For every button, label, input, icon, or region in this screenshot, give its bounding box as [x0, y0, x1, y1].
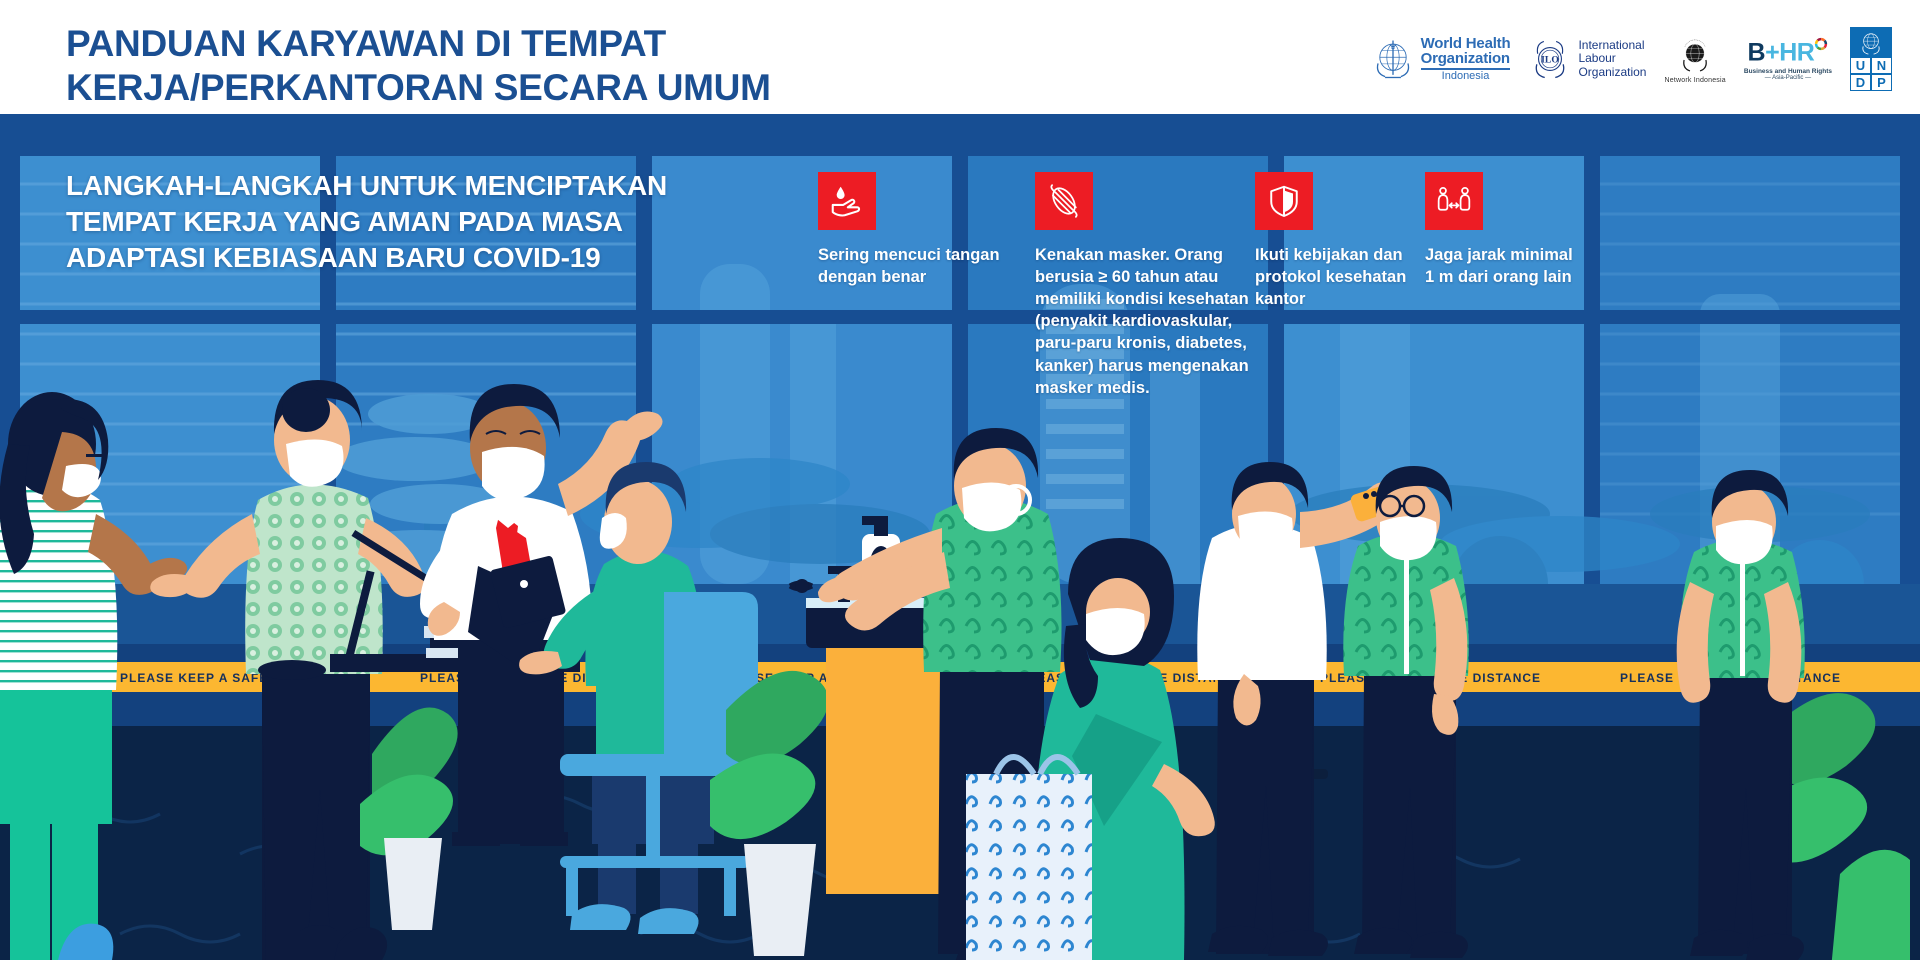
- who-line1: World Health: [1421, 36, 1511, 51]
- shield-glyph: [1266, 183, 1302, 219]
- shield-icon: [1255, 172, 1313, 230]
- face-mask-icon: [1035, 172, 1093, 230]
- who-line3: Indonesia: [1421, 71, 1511, 82]
- who-line2: Organization: [1421, 51, 1511, 66]
- ilo-logo: ILO International Labour Organization: [1528, 37, 1646, 81]
- page-title-line2: KERJA/PERKANTORAN SECARA UMUM: [66, 66, 906, 110]
- logo-strip: World Health Organization Indonesia ILO: [1371, 24, 1892, 94]
- tip-mask-text: Kenakan masker. Orang berusia ≥ 60 tahun…: [1035, 244, 1250, 399]
- bhr-plus: +: [1765, 39, 1779, 67]
- poster-header: PANDUAN KARYAWAN DI TEMPAT KERJA/PERKANT…: [0, 0, 1920, 114]
- headline-block: LANGKAH-LANGKAH UNTUK MENCIPTAKAN TEMPAT…: [66, 168, 686, 275]
- bhr-b: B: [1748, 39, 1766, 67]
- face-mask-glyph: [1045, 182, 1083, 220]
- tip-handwash: Sering mencuci tangan dengan benar: [818, 172, 1003, 288]
- tip-distance: Jaga jarak minimal 1 m dari orang lain: [1425, 172, 1575, 288]
- poster-root: PANDUAN KARYAWAN DI TEMPAT KERJA/PERKANT…: [0, 0, 1920, 960]
- ilo-line1: International: [1578, 39, 1646, 52]
- who-emblem-icon: [1371, 37, 1415, 81]
- headline-line3: ADAPTASI KEBIASAAN BARU COVID-19: [66, 240, 686, 276]
- page-title: PANDUAN KARYAWAN DI TEMPAT KERJA/PERKANT…: [66, 22, 906, 109]
- tip-handwash-text: Sering mencuci tangan dengan benar: [818, 244, 1003, 288]
- who-wordmark: World Health Organization Indonesia: [1421, 36, 1511, 82]
- who-logo: World Health Organization Indonesia: [1371, 36, 1511, 82]
- ilo-line2: Labour: [1578, 52, 1646, 65]
- handwash-glyph: [828, 182, 866, 220]
- headline-line2: TEMPAT KERJA YANG AMAN PADA MASA: [66, 204, 686, 240]
- undp-cell-p: P: [1871, 74, 1892, 91]
- undp-letter-grid: U N D P: [1850, 57, 1892, 91]
- bhr-sub2: — Asia-Pacific —: [1744, 75, 1832, 81]
- headline-line1: LANGKAH-LANGKAH UNTUK MENCIPTAKAN: [66, 168, 686, 204]
- bhr-asia-pacific-logo: B+HR: [1744, 37, 1832, 80]
- bhr-wordmark: B+HR: [1744, 37, 1832, 65]
- undp-emblem: [1850, 27, 1892, 57]
- un-emblem-icon: [1858, 29, 1884, 55]
- ilo-emblem-icon: ILO: [1528, 37, 1572, 81]
- undp-cell-n: N: [1871, 57, 1892, 74]
- ilo-line3: Organization: [1578, 66, 1646, 79]
- bhr-hr: HR: [1779, 39, 1814, 67]
- global-compact-globe-icon: [1674, 34, 1716, 76]
- tip-mask: Kenakan masker. Orang berusia ≥ 60 tahun…: [1035, 172, 1250, 399]
- social-distance-icon: [1425, 172, 1483, 230]
- tip-distance-text: Jaga jarak minimal 1 m dari orang lain: [1425, 244, 1575, 288]
- svg-text:ILO: ILO: [1542, 55, 1560, 66]
- ilo-wordmark: International Labour Organization: [1578, 39, 1646, 79]
- tip-policy: Ikuti kebijakan dan protokol kesehatan k…: [1255, 172, 1425, 310]
- undp-logo: U N D P: [1850, 27, 1892, 91]
- sdg-ring-icon: [1814, 37, 1828, 51]
- un-global-compact-logo: Network Indonesia: [1664, 34, 1725, 84]
- undp-cell-u: U: [1850, 57, 1871, 74]
- page-title-line1: PANDUAN KARYAWAN DI TEMPAT: [66, 22, 906, 66]
- social-distance-glyph: [1435, 184, 1473, 218]
- undp-cell-d: D: [1850, 74, 1871, 91]
- tip-policy-text: Ikuti kebijakan dan protokol kesehatan k…: [1255, 244, 1425, 310]
- bhr-sub1: Business and Human Rights: [1744, 68, 1832, 75]
- global-compact-caption: Network Indonesia: [1664, 77, 1725, 84]
- handwash-icon: [818, 172, 876, 230]
